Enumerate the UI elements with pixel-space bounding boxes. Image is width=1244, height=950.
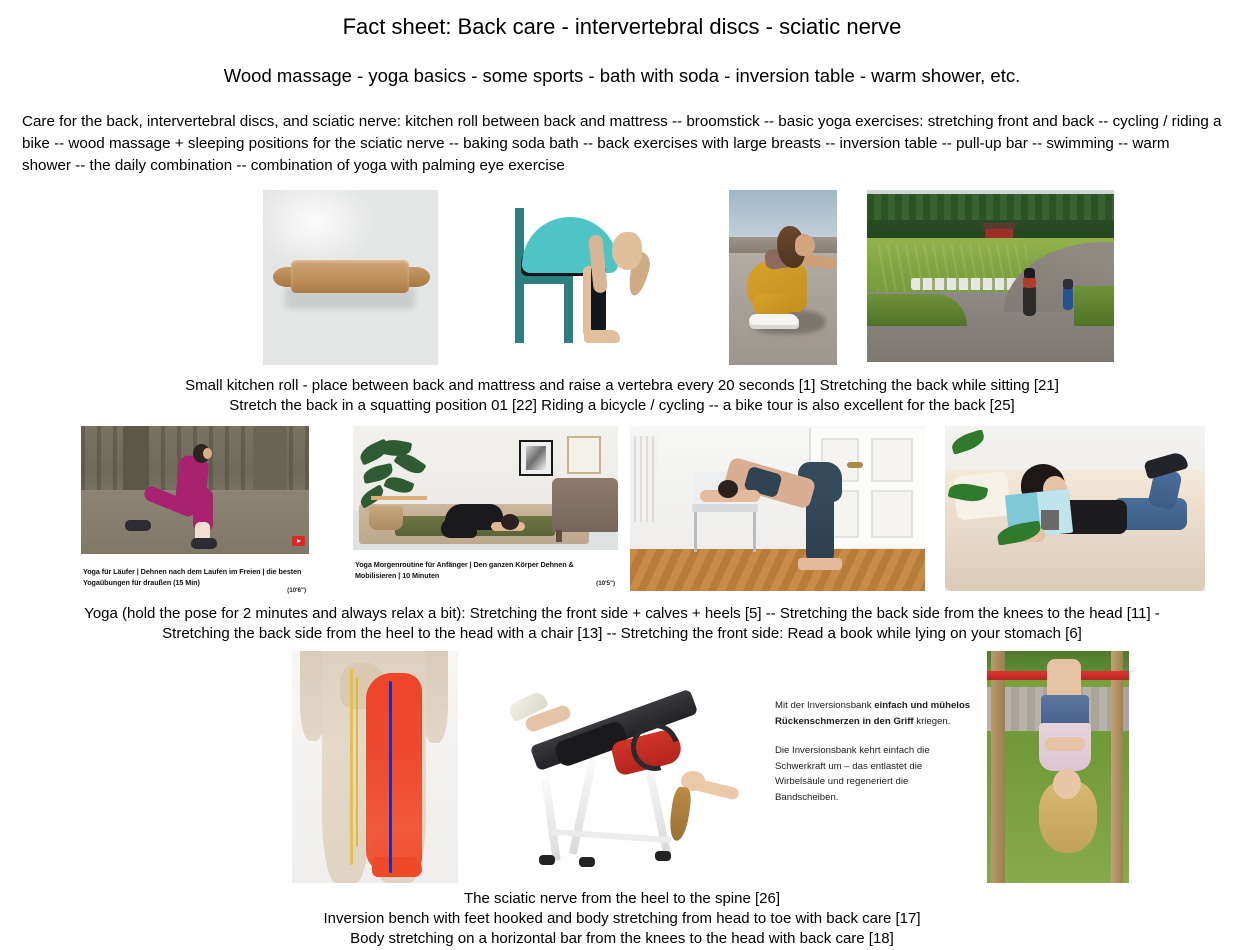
chair-legs — [694, 512, 756, 552]
white-sneaker — [749, 314, 799, 329]
person-head — [501, 514, 519, 530]
nerve-yellow-line — [350, 669, 353, 865]
squat-stretch-photo — [729, 190, 837, 365]
cyclist-far — [1063, 286, 1073, 310]
shoe-back — [125, 520, 151, 531]
leaf — [383, 473, 414, 496]
row-3-caption-line-1: The sciatic nerve from the heel to the s… — [6, 889, 1238, 909]
page-subtitle: Wood massage - yoga basics - some sports… — [0, 40, 1244, 87]
nerve-yellow-branch — [356, 677, 358, 847]
row-3-caption-line-2: Inversion bench with feet hooked and bod… — [6, 909, 1238, 929]
row-1-caption-line-1: Small kitchen roll - place between back … — [6, 376, 1238, 396]
door-panel — [871, 438, 913, 482]
lower-leg — [753, 294, 793, 316]
yoga-fuer-laeufer-thumbnail[interactable]: Yoga für Läufer | Dehnen nach dem Laufen… — [81, 426, 309, 598]
girl-arms — [1045, 737, 1085, 751]
promo-lead: Mit der Inversionsbank — [775, 700, 874, 711]
hay-bales — [911, 278, 1021, 290]
promo-tail: kriegen. — [914, 716, 951, 727]
row-1-caption: Small kitchen roll - place between back … — [0, 376, 1244, 416]
door-handle — [847, 462, 863, 468]
fact-sheet-page: Fact sheet: Back care - intervertebral d… — [0, 0, 1244, 950]
sofa — [552, 478, 618, 532]
bench-foot — [655, 851, 671, 861]
row-2-caption-line-2: Stretching the back side from the heel t… — [6, 624, 1238, 644]
inversion-bench-promo-text: Mit der Inversionsbank einfach und mühel… — [775, 698, 971, 868]
promo-paragraph-1: Mit der Inversionsbank einfach und mühel… — [775, 698, 971, 729]
sciatic-pain-highlight — [366, 673, 422, 873]
yoga-morgenroutine-thumbnail[interactable]: Yoga Morgenroutine für Anfänger | Den ga… — [353, 426, 618, 591]
shoe-front — [191, 538, 217, 549]
promo-paragraph-2: Die Inversionsbank kehrt einfach die Sch… — [775, 743, 971, 805]
video-duration: (10'6") — [287, 586, 306, 597]
chair-seat — [692, 504, 758, 512]
roadside-grass-right — [1074, 286, 1114, 326]
wall-picture-framed — [519, 440, 553, 476]
face — [203, 448, 212, 459]
image-row-1 — [0, 177, 1244, 370]
person-legs — [806, 492, 834, 562]
torso-pink-jacket — [174, 455, 209, 512]
reading-on-stomach-photo — [945, 426, 1205, 591]
video-title: Yoga für Läufer | Dehnen nach dem Laufen… — [83, 567, 301, 587]
image-row-2: Yoga für Läufer | Dehnen nach dem Laufen… — [0, 416, 1244, 598]
thumbnail-meta: Yoga Morgenroutine für Anfänger | Den ga… — [353, 557, 618, 591]
wooden-post-left — [991, 651, 1005, 883]
bench-foot — [539, 855, 555, 865]
thumbnail-meta: Yoga für Läufer | Dehnen nach dem Laufen… — [81, 564, 309, 598]
sciatic-nerve-blue-line — [389, 681, 392, 873]
bench-foot — [579, 857, 595, 867]
chair-forward-bend-illustration — [491, 190, 671, 370]
intro-paragraph: Care for the back, intervertebral discs,… — [0, 87, 1244, 177]
row-2-caption-line-1: Yoga (hold the pose for 2 minutes and al… — [6, 604, 1238, 624]
cycling-countryside-photo — [867, 190, 1114, 362]
row-3-caption-line-3: Body stretching on a horizontal bar from… — [6, 929, 1238, 949]
radiator — [630, 436, 658, 522]
person-feet — [798, 558, 842, 570]
face — [795, 234, 815, 256]
page-title: Fact sheet: Back care - intervertebral d… — [0, 0, 1244, 40]
rolling-pin-body — [291, 260, 409, 293]
leaf — [393, 449, 426, 478]
video-title: Yoga Morgenroutine für Anfänger | Den ga… — [355, 560, 574, 580]
book-illustration — [1041, 510, 1059, 530]
row-1-caption-line-2: Stretch the back in a squatting position… — [6, 396, 1238, 416]
inversion-bench-photo — [503, 683, 747, 871]
side-table — [371, 496, 427, 500]
highlighted-foot — [372, 857, 422, 877]
basket-planter — [369, 506, 403, 530]
wall-picture-empty-frame — [567, 436, 601, 474]
person-head — [612, 232, 642, 270]
thumbnail-image — [353, 426, 618, 550]
wooden-rolling-pin-image — [263, 190, 438, 365]
parquet-floor — [630, 549, 925, 591]
person-head — [718, 480, 738, 498]
wooden-post-right — [1111, 651, 1123, 883]
video-duration: (10'5") — [596, 579, 615, 590]
image-row-3: Mit der Inversionsbank einfach und mühel… — [0, 644, 1244, 883]
person-foot — [584, 330, 620, 343]
cyclist-near — [1023, 284, 1036, 316]
sciatic-nerve-anatomy-image — [292, 651, 458, 883]
door-panel — [871, 490, 913, 538]
girl-face — [1053, 769, 1081, 799]
youtube-play-icon — [292, 536, 305, 546]
row-3-caption: The sciatic nerve from the heel to the s… — [0, 889, 1244, 949]
treeline — [867, 194, 1114, 220]
chair-forward-fold-photo — [630, 426, 925, 591]
thumbnail-image — [81, 426, 309, 554]
chair-front-leg — [564, 275, 573, 343]
row-2-caption: Yoga (hold the pose for 2 minutes and al… — [0, 604, 1244, 644]
horizontal-bar-hanging-photo — [987, 651, 1129, 883]
roadside-grass-left — [867, 294, 967, 326]
